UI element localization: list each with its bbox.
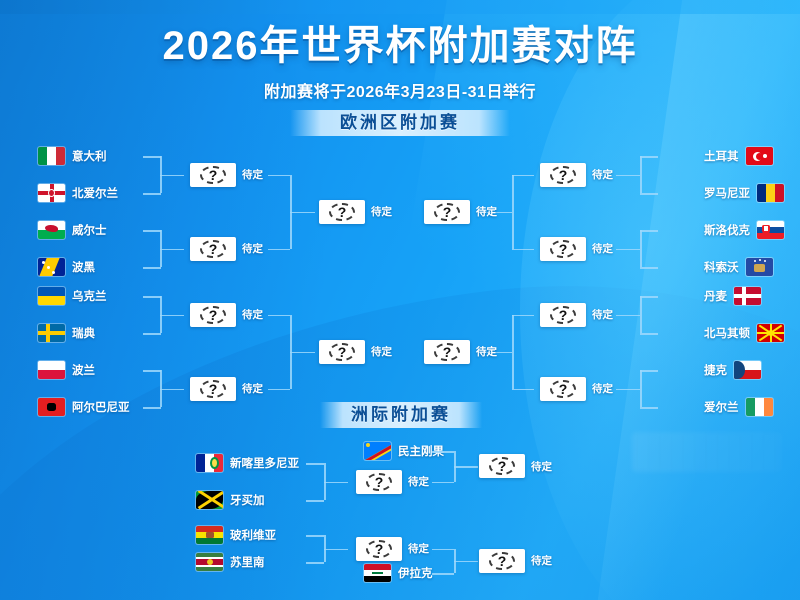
tbd-slot[interactable]: ?待定 bbox=[424, 200, 497, 224]
bracket-connector bbox=[143, 230, 161, 232]
flag-denmark-icon bbox=[734, 287, 761, 305]
flag-sweden-icon bbox=[38, 324, 65, 342]
team-name: 新喀里多尼亚 bbox=[230, 455, 299, 471]
team-entry[interactable]: 苏里南 bbox=[196, 551, 265, 573]
team-name: 北马其顿 bbox=[704, 325, 750, 341]
question-mark-icon: ? bbox=[319, 340, 365, 364]
flag-ukraine-icon bbox=[38, 287, 65, 305]
question-mark-icon: ? bbox=[190, 163, 236, 187]
tbd-slot[interactable]: ?待定 bbox=[540, 237, 613, 261]
question-mark-icon: ? bbox=[540, 237, 586, 261]
bracket-connector bbox=[306, 463, 324, 465]
bracket-connector bbox=[432, 482, 454, 484]
bracket-connector bbox=[640, 370, 642, 407]
bracket-connector bbox=[143, 296, 161, 298]
tbd-label: 待定 bbox=[371, 344, 392, 359]
team-entry[interactable]: 斯洛伐克 bbox=[704, 219, 784, 241]
bracket-connector bbox=[454, 466, 478, 468]
team-entry[interactable]: 罗马尼亚 bbox=[704, 182, 784, 204]
tbd-label: 待定 bbox=[476, 344, 497, 359]
bracket-connector bbox=[512, 175, 534, 177]
page-subtitle: 附加赛将于2026年3月23日-31日举行 bbox=[0, 78, 800, 102]
team-entry[interactable]: 北马其顿 bbox=[704, 322, 784, 344]
team-entry[interactable]: 瑞典 bbox=[38, 322, 95, 344]
question-mark-icon: ? bbox=[190, 237, 236, 261]
background-top-band bbox=[0, 0, 800, 14]
team-name: 波兰 bbox=[72, 362, 95, 378]
bracket-connector bbox=[640, 156, 658, 158]
bracket-connector bbox=[324, 549, 348, 551]
tbd-slot[interactable]: ?待定 bbox=[319, 200, 392, 224]
flag-poland-icon bbox=[38, 361, 65, 379]
bracket-connector bbox=[512, 389, 534, 391]
flag-albania-icon bbox=[38, 398, 65, 416]
team-name: 伊拉克 bbox=[398, 565, 433, 581]
team-entry[interactable]: 牙买加 bbox=[196, 489, 265, 511]
question-mark-icon: ? bbox=[424, 340, 470, 364]
bracket-connector bbox=[512, 315, 534, 317]
playoff-bracket-infographic: 2026年世界杯附加赛对阵 附加赛将于2026年3月23日-31日举行 欧洲区附… bbox=[0, 0, 800, 600]
bracket-connector bbox=[290, 212, 315, 214]
team-name: 罗马尼亚 bbox=[704, 185, 750, 201]
bracket-connector bbox=[640, 407, 658, 409]
tbd-slot[interactable]: ?待定 bbox=[356, 537, 429, 561]
team-name: 波黑 bbox=[72, 259, 95, 275]
bracket-connector bbox=[268, 175, 290, 177]
tbd-label: 待定 bbox=[408, 541, 429, 556]
tbd-label: 待定 bbox=[592, 241, 613, 256]
bracket-connector bbox=[160, 389, 184, 391]
tbd-slot[interactable]: ?待定 bbox=[190, 377, 263, 401]
team-name: 玻利维亚 bbox=[230, 527, 276, 543]
watermark bbox=[632, 432, 782, 472]
bracket-connector bbox=[432, 573, 454, 575]
tbd-label: 待定 bbox=[592, 307, 613, 322]
tbd-slot[interactable]: ?待定 bbox=[540, 377, 613, 401]
bracket-connector bbox=[616, 249, 640, 251]
tbd-label: 待定 bbox=[592, 381, 613, 396]
tbd-label: 待定 bbox=[531, 553, 552, 568]
question-mark-icon: ? bbox=[319, 200, 365, 224]
bracket-connector bbox=[432, 451, 454, 453]
tbd-slot[interactable]: ?待定 bbox=[319, 340, 392, 364]
tbd-slot[interactable]: ?待定 bbox=[190, 237, 263, 261]
bracket-connector bbox=[616, 389, 640, 391]
tbd-label: 待定 bbox=[592, 167, 613, 182]
flag-slovakia-icon bbox=[757, 221, 784, 239]
question-mark-icon: ? bbox=[356, 537, 402, 561]
flag-dr-congo-icon bbox=[364, 442, 391, 460]
flag-north-macedonia-icon bbox=[757, 324, 784, 342]
bracket-connector bbox=[640, 230, 642, 267]
bracket-connector bbox=[616, 175, 640, 177]
flag-ireland-icon bbox=[746, 398, 773, 416]
bracket-connector bbox=[616, 315, 640, 317]
tbd-slot[interactable]: ?待定 bbox=[190, 163, 263, 187]
flag-romania-icon bbox=[757, 184, 784, 202]
question-mark-icon: ? bbox=[479, 454, 525, 478]
tbd-label: 待定 bbox=[531, 459, 552, 474]
flag-bolivia-icon bbox=[196, 526, 223, 544]
flag-italy-icon bbox=[38, 147, 65, 165]
team-name: 土耳其 bbox=[704, 148, 739, 164]
tbd-label: 待定 bbox=[408, 474, 429, 489]
bracket-connector bbox=[306, 562, 324, 564]
team-name: 牙买加 bbox=[230, 492, 265, 508]
flag-iraq-icon bbox=[364, 564, 391, 582]
bracket-connector bbox=[640, 333, 658, 335]
flag-jamaica-icon bbox=[196, 491, 223, 509]
question-mark-icon: ? bbox=[479, 549, 525, 573]
team-entry[interactable]: 阿尔巴尼亚 bbox=[38, 396, 130, 418]
team-entry[interactable]: 北爱尔兰 bbox=[38, 182, 118, 204]
bracket-connector bbox=[160, 249, 184, 251]
team-entry[interactable]: 意大利 bbox=[38, 145, 107, 167]
bracket-connector bbox=[640, 230, 658, 232]
tbd-slot[interactable]: ?待定 bbox=[424, 340, 497, 364]
team-name: 威尔士 bbox=[72, 222, 107, 238]
bracket-connector bbox=[268, 389, 290, 391]
team-entry[interactable]: 爱尔兰 bbox=[704, 396, 773, 418]
tbd-label: 待定 bbox=[242, 167, 263, 182]
flag-czech-icon bbox=[734, 361, 761, 379]
question-mark-icon: ? bbox=[190, 377, 236, 401]
section-banner-europe: 欧洲区附加赛 bbox=[290, 110, 510, 136]
team-entry[interactable]: 玻利维亚 bbox=[196, 524, 276, 546]
bracket-connector bbox=[640, 296, 642, 333]
team-name: 北爱尔兰 bbox=[72, 185, 118, 201]
bracket-connector bbox=[512, 175, 514, 249]
question-mark-icon: ? bbox=[540, 303, 586, 327]
team-entry[interactable]: 捷克 bbox=[704, 359, 761, 381]
question-mark-icon: ? bbox=[190, 303, 236, 327]
flag-new-caledonia-icon bbox=[196, 454, 223, 472]
bracket-connector bbox=[512, 249, 534, 251]
header: 2026年世界杯附加赛对阵 附加赛将于2026年3月23日-31日举行 bbox=[0, 26, 800, 102]
team-entry[interactable]: 新喀里多尼亚 bbox=[196, 452, 299, 474]
tbd-label: 待定 bbox=[242, 381, 263, 396]
tbd-slot[interactable]: ?待定 bbox=[479, 549, 552, 573]
tbd-label: 待定 bbox=[242, 307, 263, 322]
bracket-connector bbox=[324, 482, 348, 484]
bracket-connector bbox=[143, 267, 161, 269]
bracket-connector bbox=[306, 535, 324, 537]
tbd-slot[interactable]: ?待定 bbox=[479, 454, 552, 478]
tbd-slot[interactable]: ?待定 bbox=[190, 303, 263, 327]
tbd-slot[interactable]: ?待定 bbox=[356, 470, 429, 494]
team-name: 捷克 bbox=[704, 362, 727, 378]
tbd-label: 待定 bbox=[476, 204, 497, 219]
bracket-connector bbox=[640, 267, 658, 269]
team-name: 苏里南 bbox=[230, 554, 265, 570]
question-mark-icon: ? bbox=[540, 377, 586, 401]
team-name: 丹麦 bbox=[704, 288, 727, 304]
team-name: 意大利 bbox=[72, 148, 107, 164]
team-name: 爱尔兰 bbox=[704, 399, 739, 415]
question-mark-icon: ? bbox=[424, 200, 470, 224]
flag-kosovo-icon bbox=[746, 258, 773, 276]
tbd-slot[interactable]: ?待定 bbox=[540, 303, 613, 327]
question-mark-icon: ? bbox=[540, 163, 586, 187]
flag-turkey-icon bbox=[746, 147, 773, 165]
flag-bosnia-icon bbox=[38, 258, 65, 276]
bracket-connector bbox=[143, 156, 161, 158]
bracket-connector bbox=[640, 193, 658, 195]
bracket-connector bbox=[640, 156, 642, 193]
team-entry[interactable]: 伊拉克 bbox=[364, 562, 433, 584]
team-name: 斯洛伐克 bbox=[704, 222, 750, 238]
team-entry[interactable]: 波黑 bbox=[38, 256, 95, 278]
bracket-connector bbox=[143, 333, 161, 335]
team-entry[interactable]: 丹麦 bbox=[704, 285, 761, 307]
team-entry[interactable]: 波兰 bbox=[38, 359, 95, 381]
team-entry[interactable]: 威尔士 bbox=[38, 219, 107, 241]
bracket-connector bbox=[160, 175, 184, 177]
bracket-connector bbox=[454, 561, 478, 563]
bracket-connector bbox=[512, 315, 514, 389]
bracket-connector bbox=[640, 370, 658, 372]
tbd-label: 待定 bbox=[371, 204, 392, 219]
flag-wales-icon bbox=[38, 221, 65, 239]
bracket-connector bbox=[432, 549, 454, 551]
bracket-connector bbox=[268, 249, 290, 251]
page-title: 2026年世界杯附加赛对阵 bbox=[0, 26, 800, 66]
flag-suriname-icon bbox=[196, 553, 223, 571]
bracket-connector bbox=[306, 500, 324, 502]
section-banner-intercontinental: 洲际附加赛 bbox=[320, 402, 482, 428]
team-entry[interactable]: 乌克兰 bbox=[38, 285, 107, 307]
bracket-connector bbox=[290, 352, 315, 354]
team-name: 乌克兰 bbox=[72, 288, 107, 304]
bracket-connector bbox=[143, 193, 161, 195]
bracket-connector bbox=[160, 315, 184, 317]
tbd-slot[interactable]: ?待定 bbox=[540, 163, 613, 187]
team-entry[interactable]: 科索沃 bbox=[704, 256, 773, 278]
bracket-connector bbox=[143, 370, 161, 372]
bracket-connector bbox=[268, 315, 290, 317]
bracket-connector bbox=[143, 407, 161, 409]
team-name: 瑞典 bbox=[72, 325, 95, 341]
flag-northern-ireland-icon bbox=[38, 184, 65, 202]
question-mark-icon: ? bbox=[356, 470, 402, 494]
team-name: 阿尔巴尼亚 bbox=[72, 399, 130, 415]
bracket-connector bbox=[640, 296, 658, 298]
team-name: 科索沃 bbox=[704, 259, 739, 275]
tbd-label: 待定 bbox=[242, 241, 263, 256]
team-entry[interactable]: 土耳其 bbox=[704, 145, 773, 167]
